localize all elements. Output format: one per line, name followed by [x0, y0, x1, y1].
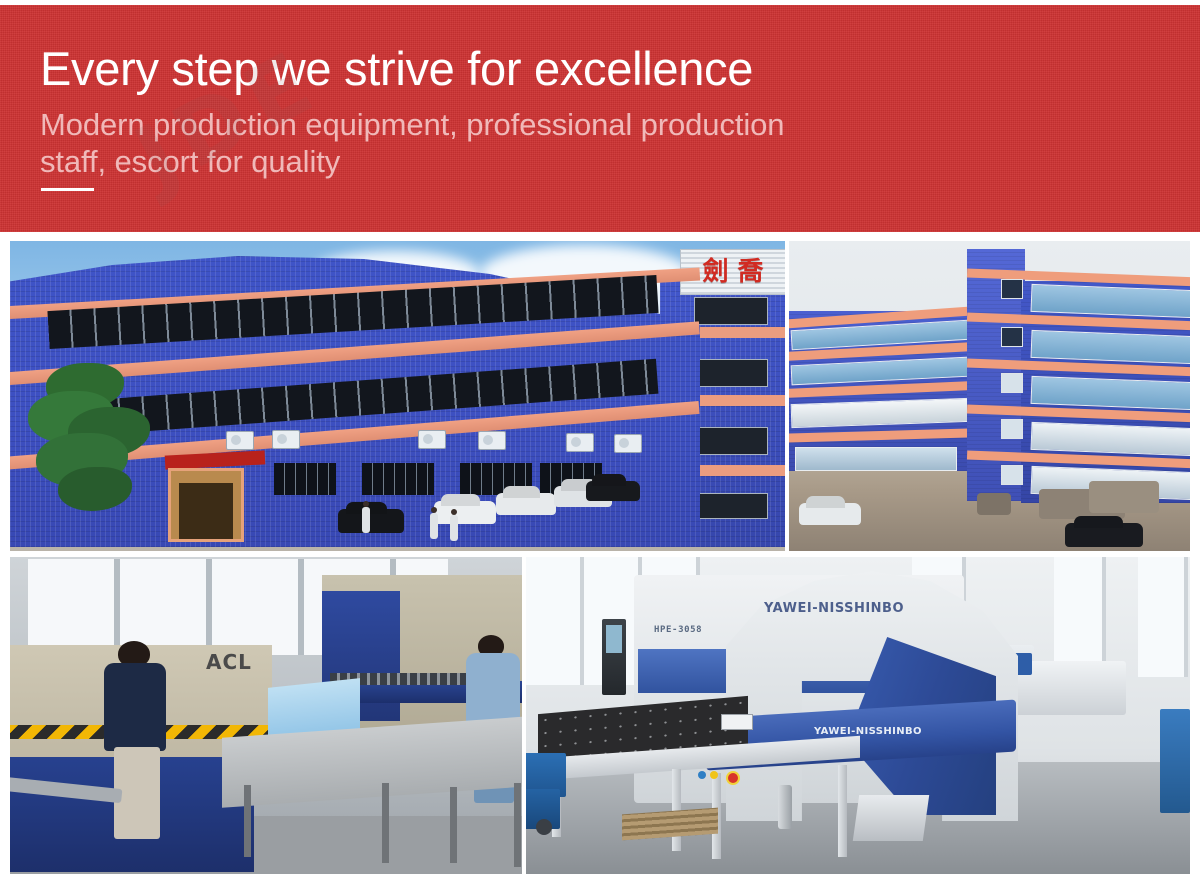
table-leg: [382, 783, 389, 863]
worker-foreground: [96, 641, 170, 841]
car: [586, 481, 640, 501]
photo-factory-exterior-main[interactable]: 劍 喬: [10, 241, 785, 551]
ground-floor-window: [362, 463, 434, 495]
foliage: [58, 467, 132, 511]
gallery-row-top: 劍 喬: [10, 241, 1190, 551]
rooftop-sign-text: 劍 喬: [702, 259, 763, 285]
tree: [28, 363, 163, 523]
photo-workshop-cnc-turret-punch[interactable]: YAWEI-NISSHINBO YAWEI-NISSHINBO HPE-3058: [526, 557, 1190, 874]
banner-content: Every step we strive for excellence Mode…: [40, 5, 1200, 232]
photo-factory-exterior-secondary[interactable]: [789, 241, 1190, 551]
hall-window: [1138, 557, 1188, 677]
building-entrance-door: [168, 468, 244, 542]
small-window: [1001, 419, 1023, 439]
hero-banner: Every step we strive for excellence Mode…: [0, 5, 1200, 232]
blue-equipment-column: [1160, 709, 1190, 813]
page-title: Every step we strive for excellence: [40, 43, 753, 95]
hall-window: [526, 557, 584, 685]
car: [338, 509, 404, 533]
small-window: [1001, 465, 1023, 485]
person: [362, 507, 370, 533]
small-window: [1001, 327, 1023, 347]
window: [694, 359, 768, 387]
window: [694, 297, 768, 325]
photo-2-scene: [789, 241, 1190, 551]
table-leg: [514, 783, 521, 867]
cnc-control-pendant[interactable]: [602, 619, 626, 695]
pneumatic-cylinder: [778, 785, 792, 829]
small-window: [1001, 373, 1023, 393]
air-conditioner-unit: [226, 431, 254, 450]
worker-torso: [104, 663, 166, 751]
table-leg: [244, 785, 251, 857]
page-root: Every step we strive for excellence Mode…: [0, 0, 1200, 884]
page-subtitle: Modern production equipment, professiona…: [40, 106, 820, 180]
table-leg: [838, 765, 847, 857]
air-conditioner-unit: [614, 434, 642, 453]
table-caster-wheel: [536, 819, 552, 835]
ground-floor-window: [274, 463, 336, 495]
air-conditioner-unit: [418, 430, 446, 449]
machine-model-label: HPE-3058: [654, 625, 702, 635]
title-underline-rule: [41, 188, 94, 191]
car: [1065, 523, 1143, 547]
air-conditioner-unit: [478, 431, 506, 450]
emergency-stop-button[interactable]: [726, 771, 740, 785]
rubble-pile: [1089, 481, 1159, 513]
person: [450, 515, 458, 541]
window-strip: [795, 447, 957, 471]
car: [434, 501, 496, 524]
indicator-lamp: [710, 771, 718, 779]
photo-4-scene: YAWEI-NISSHINBO YAWEI-NISSHINBO HPE-3058: [526, 557, 1190, 874]
car: [496, 493, 556, 515]
machine-brand-label-yawei-ram: YAWEI-NISSHINBO: [814, 726, 922, 737]
person: [430, 513, 438, 539]
photo-workshop-shearing-machine[interactable]: ACL: [10, 557, 522, 874]
rubble-pile: [977, 493, 1011, 515]
worker-torso: [466, 653, 520, 727]
air-conditioner-unit: [566, 433, 594, 452]
photo-1-scene: 劍 喬: [10, 241, 785, 551]
machine-base-block: [853, 795, 929, 841]
small-window: [1001, 279, 1023, 299]
photo-3-scene: ACL: [10, 557, 522, 874]
machine-brand-label-acl: ACL: [206, 650, 252, 674]
gallery-row-bottom: ACL: [10, 557, 1190, 874]
indicator-lamp: [698, 771, 706, 779]
window: [694, 493, 768, 519]
ram-control-panel[interactable]: [721, 714, 753, 730]
car: [799, 503, 861, 525]
window: [694, 427, 768, 455]
photo-gallery: 劍 喬: [10, 241, 1190, 874]
air-conditioner-unit: [272, 430, 300, 449]
table-leg: [450, 787, 457, 863]
machine-brand-label-yawei: YAWEI-NISSHINBO: [764, 601, 904, 616]
